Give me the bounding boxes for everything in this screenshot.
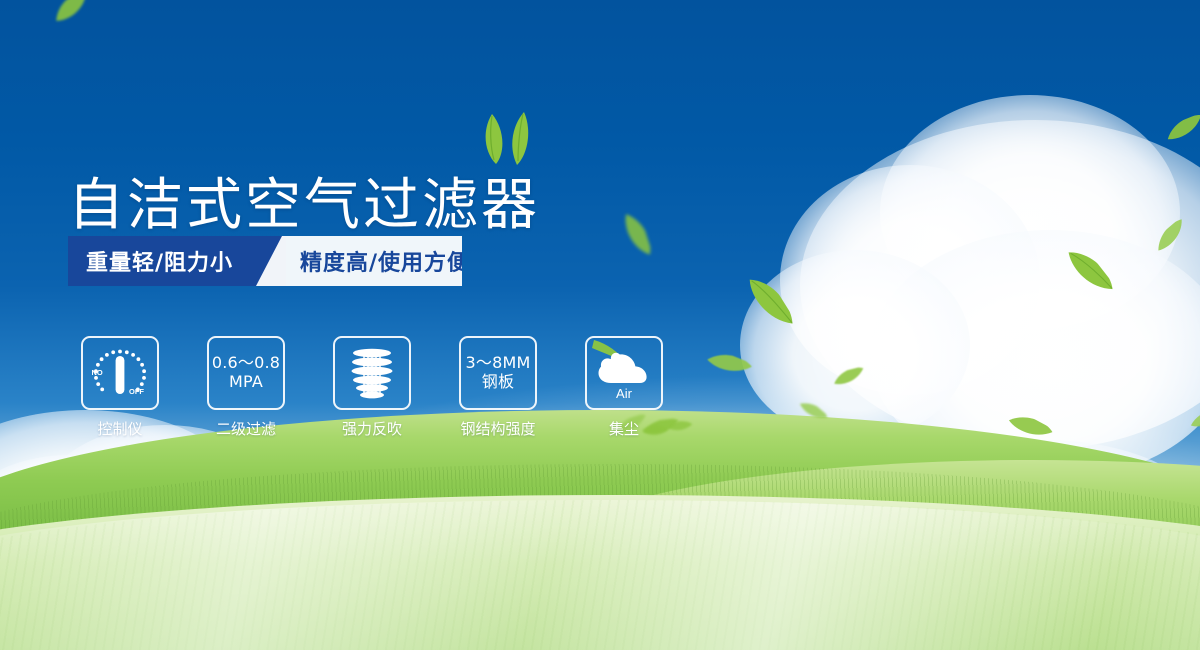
- cloud-air-text: Air: [587, 386, 661, 401]
- subtitle-left-segment: 重量轻/阻力小: [68, 236, 286, 286]
- feature-label: 强力反吹: [342, 418, 402, 439]
- feature-item-blowback[interactable]: 强力反吹: [333, 336, 411, 439]
- steel-plate-text-icon: 3～8MM 钢板: [466, 354, 531, 391]
- pressure-unit: MPA: [212, 373, 280, 392]
- feature-label: 二级过滤: [216, 418, 276, 439]
- feature-icon-box: 3～8MM 钢板: [459, 336, 537, 410]
- feature-item-pressure[interactable]: 0.6～0.8 MPA 二级过滤: [207, 336, 285, 439]
- subtitle-bar: 重量轻/阻力小 精度高/使用方便: [68, 236, 462, 286]
- subtitle-right-text: 精度高/使用方便: [300, 245, 470, 277]
- subtitle-left-text: 重量轻/阻力小: [86, 245, 233, 277]
- pressure-range: 0.6～0.8: [212, 354, 280, 373]
- feature-label: 控制仪: [97, 418, 142, 439]
- feature-label: 钢结构强度: [460, 418, 535, 439]
- feature-icon-box: [333, 336, 411, 410]
- steel-thickness: 3～8MM: [466, 354, 531, 373]
- feature-icon-box: 0.6～0.8 MPA: [207, 336, 285, 410]
- filter-coil-icon: [343, 344, 401, 402]
- feature-item-control[interactable]: NO OFF 控制仪: [81, 336, 159, 439]
- feature-icon-box: Air Air: [585, 336, 663, 410]
- svg-text:NO: NO: [92, 368, 103, 377]
- feature-label: 集尘: [609, 418, 639, 439]
- feature-item-steel[interactable]: 3～8MM 钢板 钢结构强度: [459, 336, 537, 439]
- feature-list: NO OFF 控制仪 0.6～0.8 MPA 二级过滤: [81, 336, 663, 439]
- gauge-dial-icon: NO OFF: [88, 344, 152, 402]
- feature-icon-box: NO OFF: [81, 336, 159, 410]
- feature-item-dust[interactable]: Air Air 集尘: [585, 336, 663, 439]
- product-banner: 自洁式空气过滤器 重量轻/阻力小 精度高/使用方便: [0, 0, 1200, 650]
- subtitle-right-segment: 精度高/使用方便: [256, 236, 462, 286]
- sprout-icon: [470, 108, 540, 166]
- pressure-text-icon: 0.6～0.8 MPA: [212, 354, 280, 391]
- steel-material: 钢板: [466, 373, 531, 392]
- svg-text:OFF: OFF: [129, 387, 144, 396]
- page-title: 自洁式空气过滤器: [68, 178, 540, 234]
